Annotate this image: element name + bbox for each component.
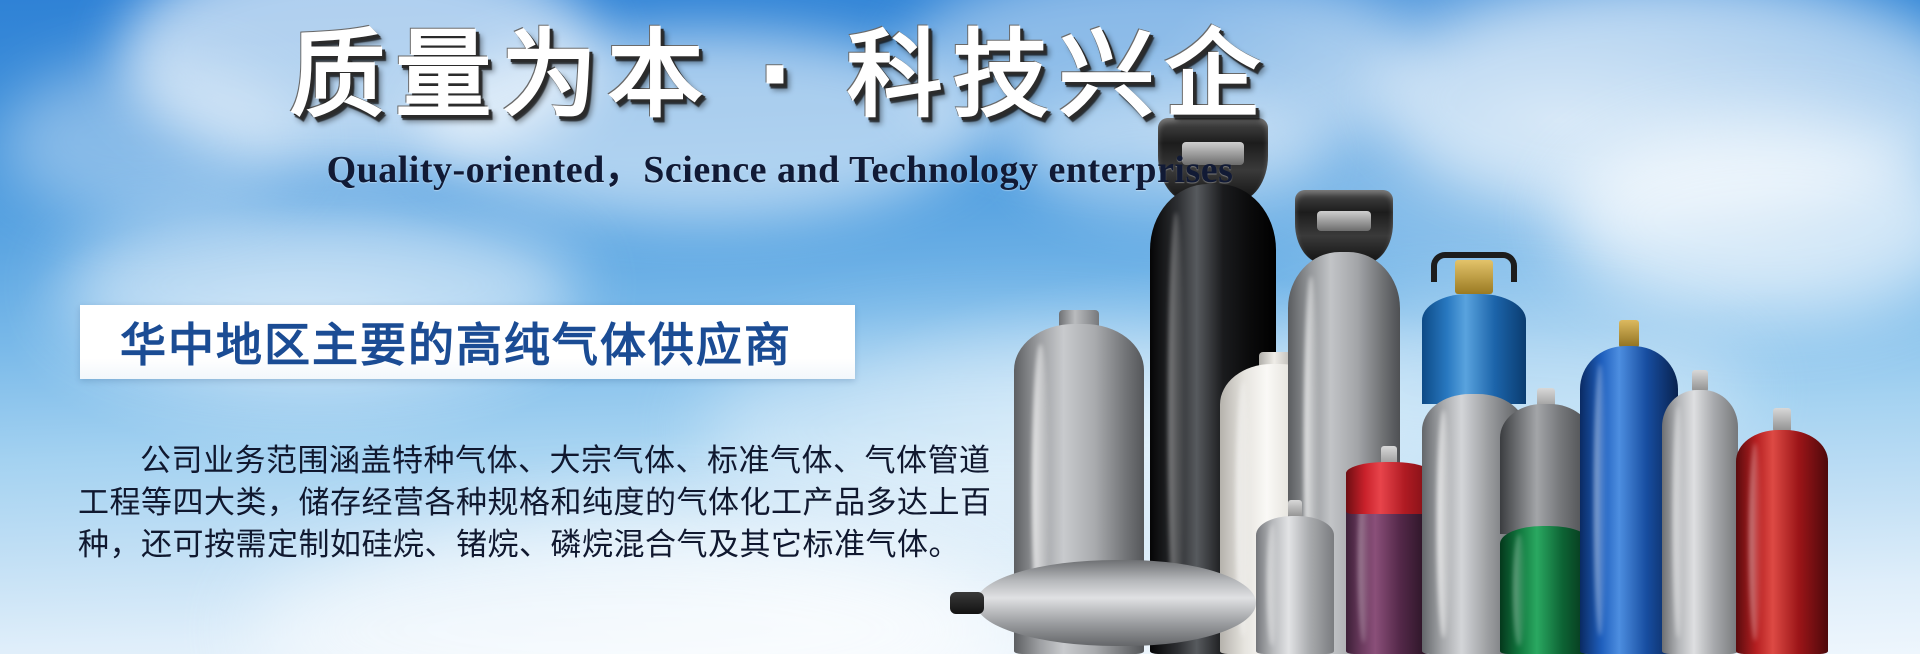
green-cylinder — [1500, 394, 1592, 654]
promo-banner: 质量为本 · 科技兴企 Quality-oriented，Science and… — [0, 0, 1920, 654]
red-purple-cylinder — [1346, 454, 1432, 654]
description-line: 公司业务范围涵盖特种气体、大宗气体、标准气体、气体管道 — [78, 440, 878, 482]
description-line: 种，还可按需定制如硅烷、锗烷、磷烷混合气及其它标准气体。 — [78, 524, 878, 566]
banner-subtitle: Quality-oriented，Science and Technology … — [0, 138, 1560, 193]
silver-small-cylinder — [1256, 504, 1334, 654]
tagline-text: 华中地区主要的高纯气体供应商 — [80, 309, 792, 375]
description-line: 工程等四大类，储存经营各种规格和纯度的气体化工产品多达上百 — [78, 482, 878, 524]
dark-red-cylinder — [1736, 414, 1828, 654]
banner-description: 公司业务范围涵盖特种气体、大宗气体、标准气体、气体管道 工程等四大类，储存经营各… — [78, 440, 878, 566]
banner-headline: 质量为本 · 科技兴企 — [0, 24, 1560, 128]
tagline-highlight-box: 华中地区主要的高纯气体供应商 — [80, 305, 855, 379]
horizontal-silver-tank — [976, 560, 1256, 646]
silver-cylinder — [1662, 374, 1738, 654]
